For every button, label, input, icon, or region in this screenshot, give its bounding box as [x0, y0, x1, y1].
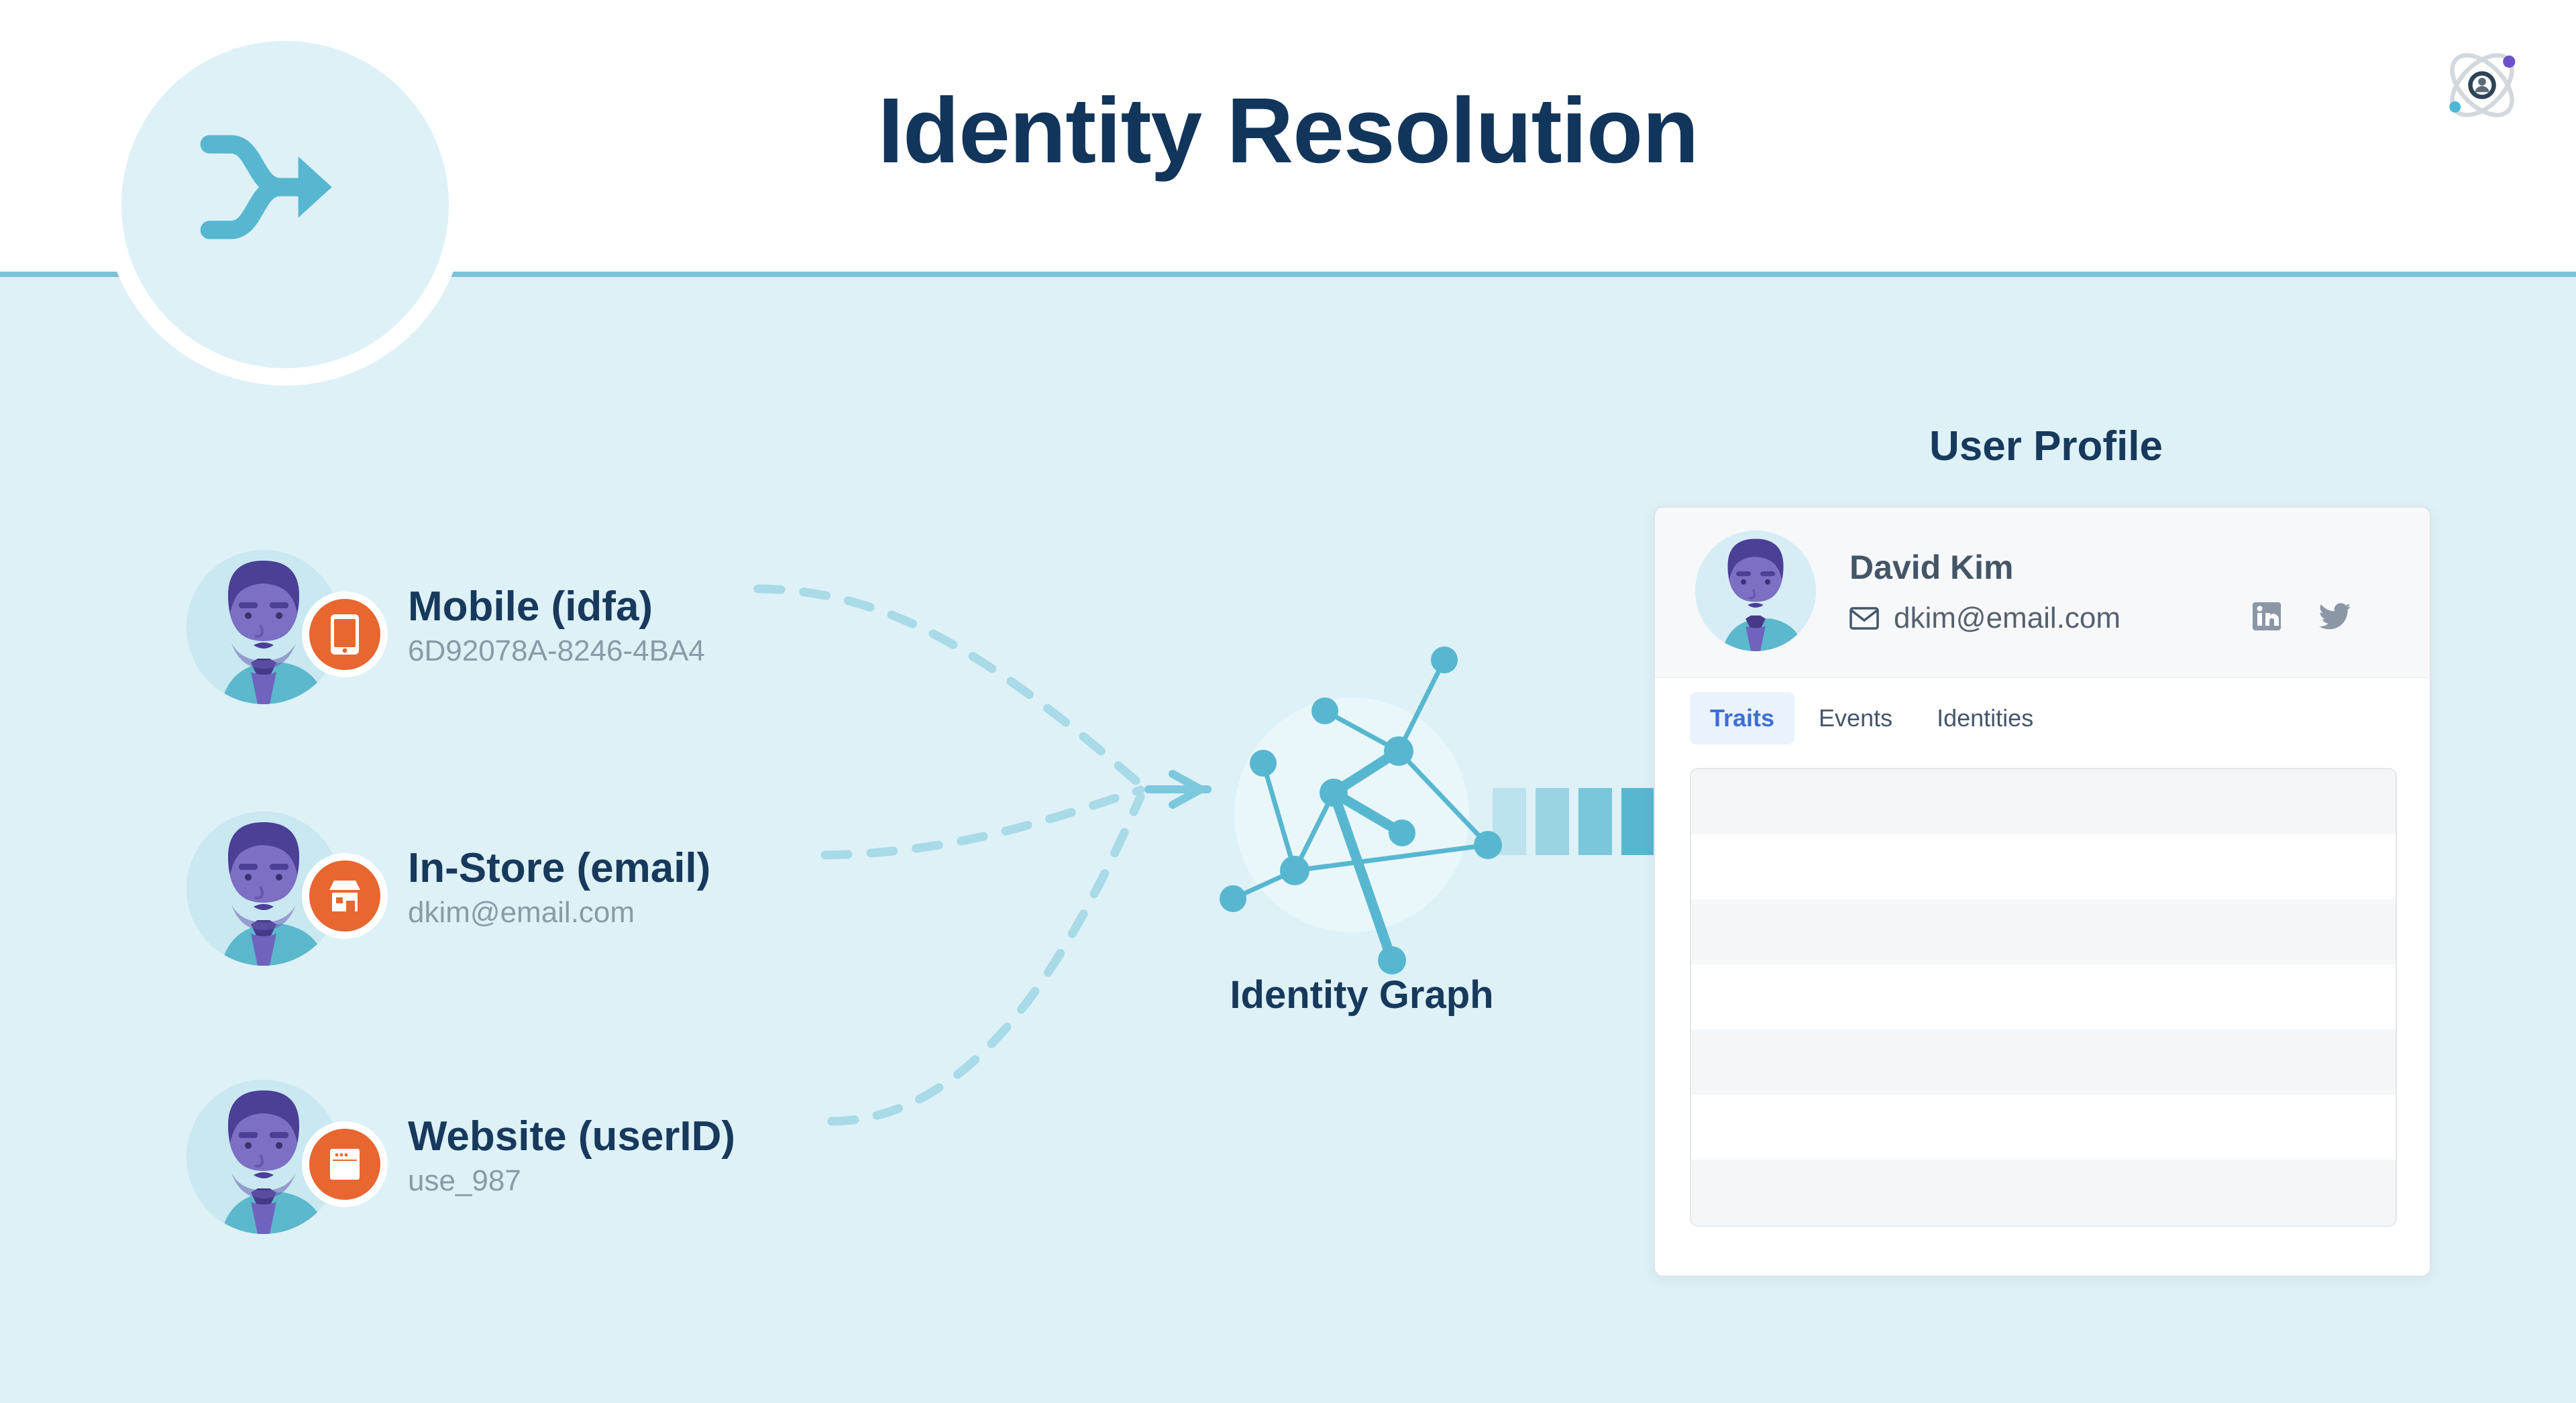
traits-table[interactable]: [1690, 768, 2397, 1227]
transition-bar-4: [1621, 788, 1655, 855]
atom-user-logo: [2438, 42, 2526, 129]
tab-traits[interactable]: Traits: [1690, 692, 1794, 744]
tab-events[interactable]: Events: [1799, 692, 1913, 744]
identity-badge: [302, 592, 388, 677]
linkedin-icon[interactable]: [2252, 602, 2282, 631]
table-row[interactable]: [1691, 1160, 2396, 1225]
table-row[interactable]: [1691, 964, 2396, 1029]
tab-identities[interactable]: Identities: [1917, 692, 2053, 744]
identity-badge: [302, 1121, 388, 1207]
table-row[interactable]: [1691, 1095, 2396, 1160]
transition-bars: [1493, 788, 1667, 855]
profile-email: dkim@email.com: [1894, 602, 2121, 635]
table-row[interactable]: [1691, 1029, 2396, 1095]
graph-halo: [1234, 697, 1469, 932]
profile-tabs: Traits Events Identities: [1655, 679, 2430, 758]
twitter-icon[interactable]: [2319, 602, 2351, 630]
page-title: Identity Resolution: [0, 80, 2576, 182]
user-profile-heading: User Profile: [1650, 423, 2442, 470]
header-badge: [104, 23, 466, 386]
user-profile-card: David Kim dkim@email.com Traits Events I…: [1654, 506, 2431, 1277]
connector-website: [832, 797, 1140, 1121]
transition-bar-1: [1493, 788, 1526, 855]
connector-instore: [825, 790, 1140, 855]
identity-badge: [302, 853, 388, 939]
browser-window-icon: [325, 1145, 364, 1183]
avatar: [1695, 530, 1816, 651]
table-row[interactable]: [1691, 769, 2396, 834]
profile-name: David Kim: [1849, 548, 2014, 587]
profile-contact: dkim@email.com: [1849, 602, 2121, 635]
profile-card-header: David Kim dkim@email.com: [1655, 508, 2430, 678]
transition-bar-2: [1536, 788, 1569, 855]
mobile-phone-icon: [329, 613, 360, 656]
identity-graph-label: Identity Graph: [1140, 972, 1583, 1017]
identity-graph-visual: [1207, 644, 1523, 979]
envelope-icon: [1849, 607, 1879, 630]
storefront-icon: [325, 877, 364, 915]
identity-connectors: [738, 550, 1248, 1167]
connector-mobile: [758, 589, 1140, 785]
transition-bar-3: [1578, 788, 1612, 855]
profile-social-links: [2252, 602, 2351, 631]
table-row[interactable]: [1691, 834, 2396, 899]
table-row[interactable]: [1691, 899, 2396, 964]
identity-value: use_987: [408, 1162, 851, 1199]
